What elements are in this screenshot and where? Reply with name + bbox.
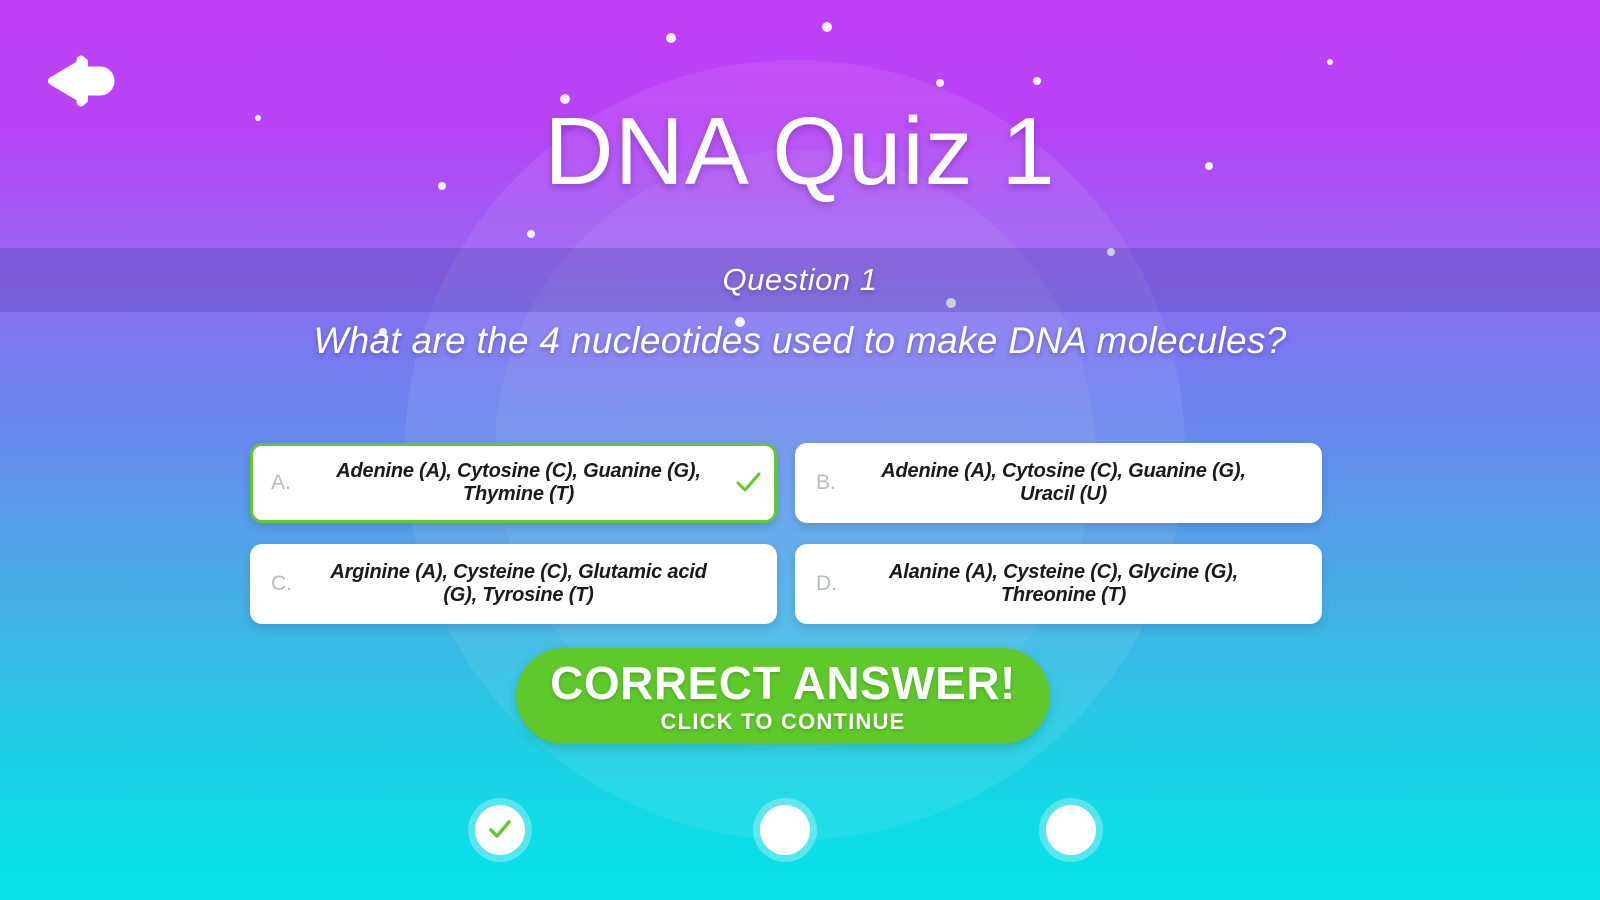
answer-text: Arginine (A), Cysteine (C), Glutamic aci… — [315, 561, 722, 607]
answer-option-c[interactable]: C.Arginine (A), Cysteine (C), Glutamic a… — [250, 544, 777, 624]
continue-button-subtitle: CLICK TO CONTINUE — [661, 711, 906, 733]
background-particle — [1327, 59, 1333, 65]
check-icon — [722, 468, 774, 498]
background-particle — [527, 230, 535, 238]
answer-letter: C. — [253, 572, 315, 596]
background-particle — [666, 33, 676, 43]
page-title: DNA Quiz 1 — [0, 104, 1600, 200]
check-icon — [487, 817, 513, 843]
background-particle — [936, 79, 944, 87]
progress-dot-1[interactable] — [475, 805, 525, 855]
background-particle — [822, 22, 832, 32]
quiz-screen: DNA Quiz 1 Question 1 What are the 4 nuc… — [0, 0, 1600, 900]
continue-button-title: CORRECT ANSWER! — [550, 660, 1016, 706]
question-number-label: Question 1 — [723, 262, 878, 298]
answer-option-b[interactable]: B.Adenine (A), Cytosine (C), Guanine (G)… — [795, 443, 1322, 523]
answer-letter: B. — [798, 471, 860, 495]
progress-dot-3[interactable] — [1046, 805, 1096, 855]
progress-dots — [0, 805, 1600, 865]
answer-text: Adenine (A), Cytosine (C), Guanine (G), … — [315, 460, 722, 506]
answer-text: Alanine (A), Cysteine (C), Glycine (G), … — [860, 561, 1267, 607]
continue-button[interactable]: CORRECT ANSWER! CLICK TO CONTINUE — [516, 648, 1050, 744]
answer-option-a[interactable]: A.Adenine (A), Cytosine (C), Guanine (G)… — [250, 443, 777, 523]
background-particle — [1033, 77, 1041, 85]
answer-letter: D. — [798, 572, 860, 596]
answer-option-d[interactable]: D.Alanine (A), Cysteine (C), Glycine (G)… — [795, 544, 1322, 624]
answer-options-grid: A.Adenine (A), Cytosine (C), Guanine (G)… — [250, 443, 1322, 624]
progress-dot-2[interactable] — [760, 805, 810, 855]
question-prompt: What are the 4 nucleotides used to make … — [0, 320, 1600, 362]
answer-text: Adenine (A), Cytosine (C), Guanine (G), … — [860, 460, 1267, 506]
answer-letter: A. — [253, 471, 315, 495]
question-number-band: Question 1 — [0, 248, 1600, 312]
